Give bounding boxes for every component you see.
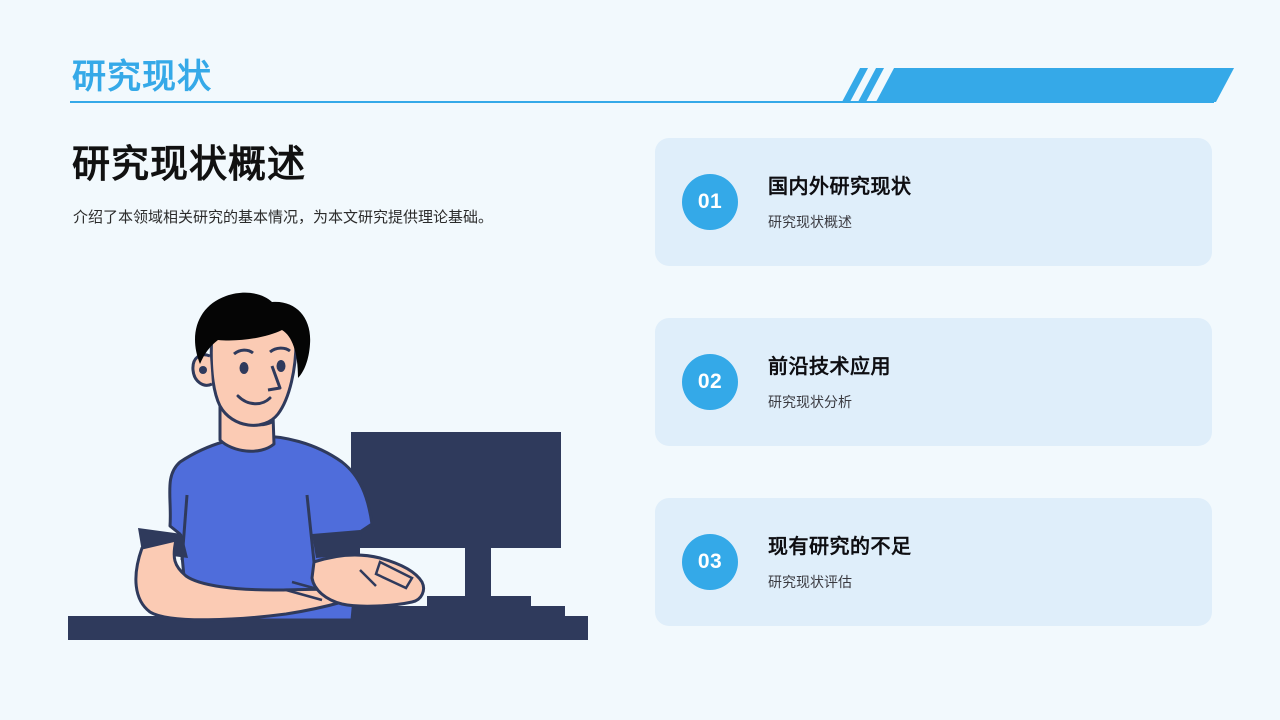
card-text-block: 国内外研究现状 研究现状概述 [768, 173, 912, 232]
card-number-badge: 03 [682, 534, 738, 590]
section-subtitle: 介绍了本领域相关研究的基本情况，为本文研究提供理论基础。 [73, 207, 493, 229]
card-title: 国内外研究现状 [768, 173, 912, 201]
person-head [193, 293, 310, 426]
earring-dot [199, 366, 207, 374]
card-title: 现有研究的不足 [768, 533, 912, 561]
content-card-02[interactable]: 02 前沿技术应用 研究现状分析 [655, 318, 1212, 446]
header-stripe-decoration [845, 68, 1215, 102]
stripe-wide [876, 68, 1234, 102]
card-text-block: 现有研究的不足 研究现状评估 [768, 533, 912, 592]
card-text-block: 前沿技术应用 研究现状分析 [768, 353, 891, 412]
content-card-01[interactable]: 01 国内外研究现状 研究现状概述 [655, 138, 1212, 266]
page-title: 研究现状 [72, 56, 212, 98]
card-number-badge: 01 [682, 174, 738, 230]
card-title: 前沿技术应用 [768, 353, 891, 381]
section-heading: 研究现状概述 [72, 141, 306, 189]
card-subtitle: 研究现状分析 [768, 392, 891, 412]
card-number-badge: 02 [682, 354, 738, 410]
content-card-list: 01 国内外研究现状 研究现状概述 02 前沿技术应用 研究现状分析 03 现有… [655, 138, 1212, 626]
slide-canvas: 研究现状 研究现状概述 介绍了本领域相关研究的基本情况，为本文研究提供理论基础。 [0, 0, 1280, 720]
person-at-computer-illustration [60, 290, 605, 640]
person-right-hand [312, 555, 424, 606]
content-card-03[interactable]: 03 现有研究的不足 研究现状评估 [655, 498, 1212, 626]
card-subtitle: 研究现状评估 [768, 572, 912, 592]
card-subtitle: 研究现状概述 [768, 212, 912, 232]
